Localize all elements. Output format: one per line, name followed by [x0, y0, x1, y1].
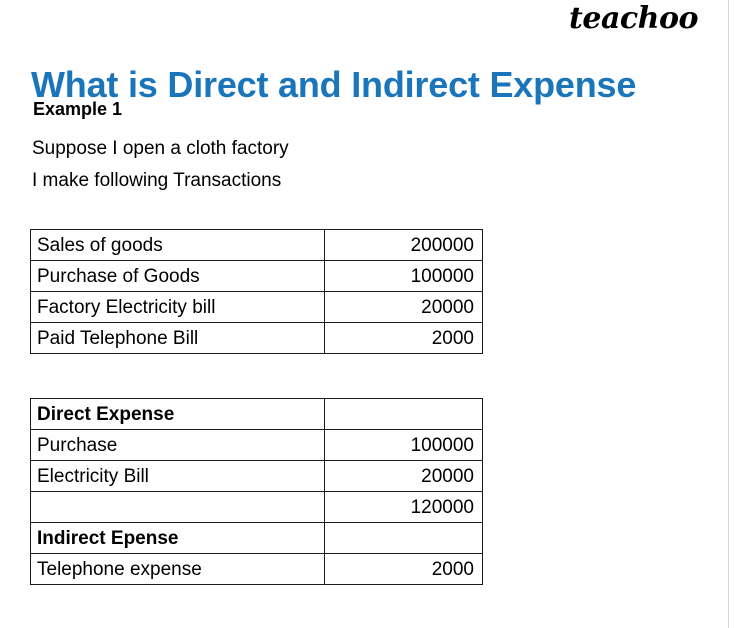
intro-line-scenario: Suppose I open a cloth factory	[32, 138, 289, 161]
expense-amount	[325, 399, 483, 430]
expense-category-heading: Indirect Epense	[31, 523, 325, 554]
table-row: Indirect Epense	[31, 523, 483, 554]
transaction-label: Sales of goods	[31, 230, 325, 261]
table-row: Paid Telephone Bill 2000	[31, 323, 483, 354]
intro-line-transactions: I make following Transactions	[32, 170, 281, 193]
expense-amount: 100000	[325, 430, 483, 461]
example-heading: Example 1	[33, 99, 122, 121]
table-row: Electricity Bill 20000	[31, 461, 483, 492]
expense-label: Telephone expense	[31, 554, 325, 585]
table-row: Purchase 100000	[31, 430, 483, 461]
table-row: Purchase of Goods 100000	[31, 261, 483, 292]
teachoo-logo: teachoo	[569, 4, 698, 34]
transactions-table: Sales of goods 200000 Purchase of Goods …	[30, 229, 483, 354]
expense-amount	[325, 523, 483, 554]
transaction-amount: 200000	[325, 230, 483, 261]
transaction-amount: 2000	[325, 323, 483, 354]
transactions-table-body: Sales of goods 200000 Purchase of Goods …	[31, 230, 483, 354]
page-border-rule	[728, 0, 729, 628]
expense-category-heading: Direct Expense	[31, 399, 325, 430]
expense-label: Purchase	[31, 430, 325, 461]
table-row: Sales of goods 200000	[31, 230, 483, 261]
table-row: Direct Expense	[31, 399, 483, 430]
expense-label	[31, 492, 325, 523]
transaction-amount: 20000	[325, 292, 483, 323]
table-row: Factory Electricity bill 20000	[31, 292, 483, 323]
expense-classification-table-body: Direct Expense Purchase 100000 Electrici…	[31, 399, 483, 585]
expense-label: Electricity Bill	[31, 461, 325, 492]
expense-amount: 20000	[325, 461, 483, 492]
table-row: Telephone expense 2000	[31, 554, 483, 585]
table-row: 120000	[31, 492, 483, 523]
expense-classification-table: Direct Expense Purchase 100000 Electrici…	[30, 398, 483, 585]
transaction-amount: 100000	[325, 261, 483, 292]
transaction-label: Purchase of Goods	[31, 261, 325, 292]
expense-amount: 2000	[325, 554, 483, 585]
transaction-label: Paid Telephone Bill	[31, 323, 325, 354]
expense-total-amount: 120000	[325, 492, 483, 523]
transaction-label: Factory Electricity bill	[31, 292, 325, 323]
